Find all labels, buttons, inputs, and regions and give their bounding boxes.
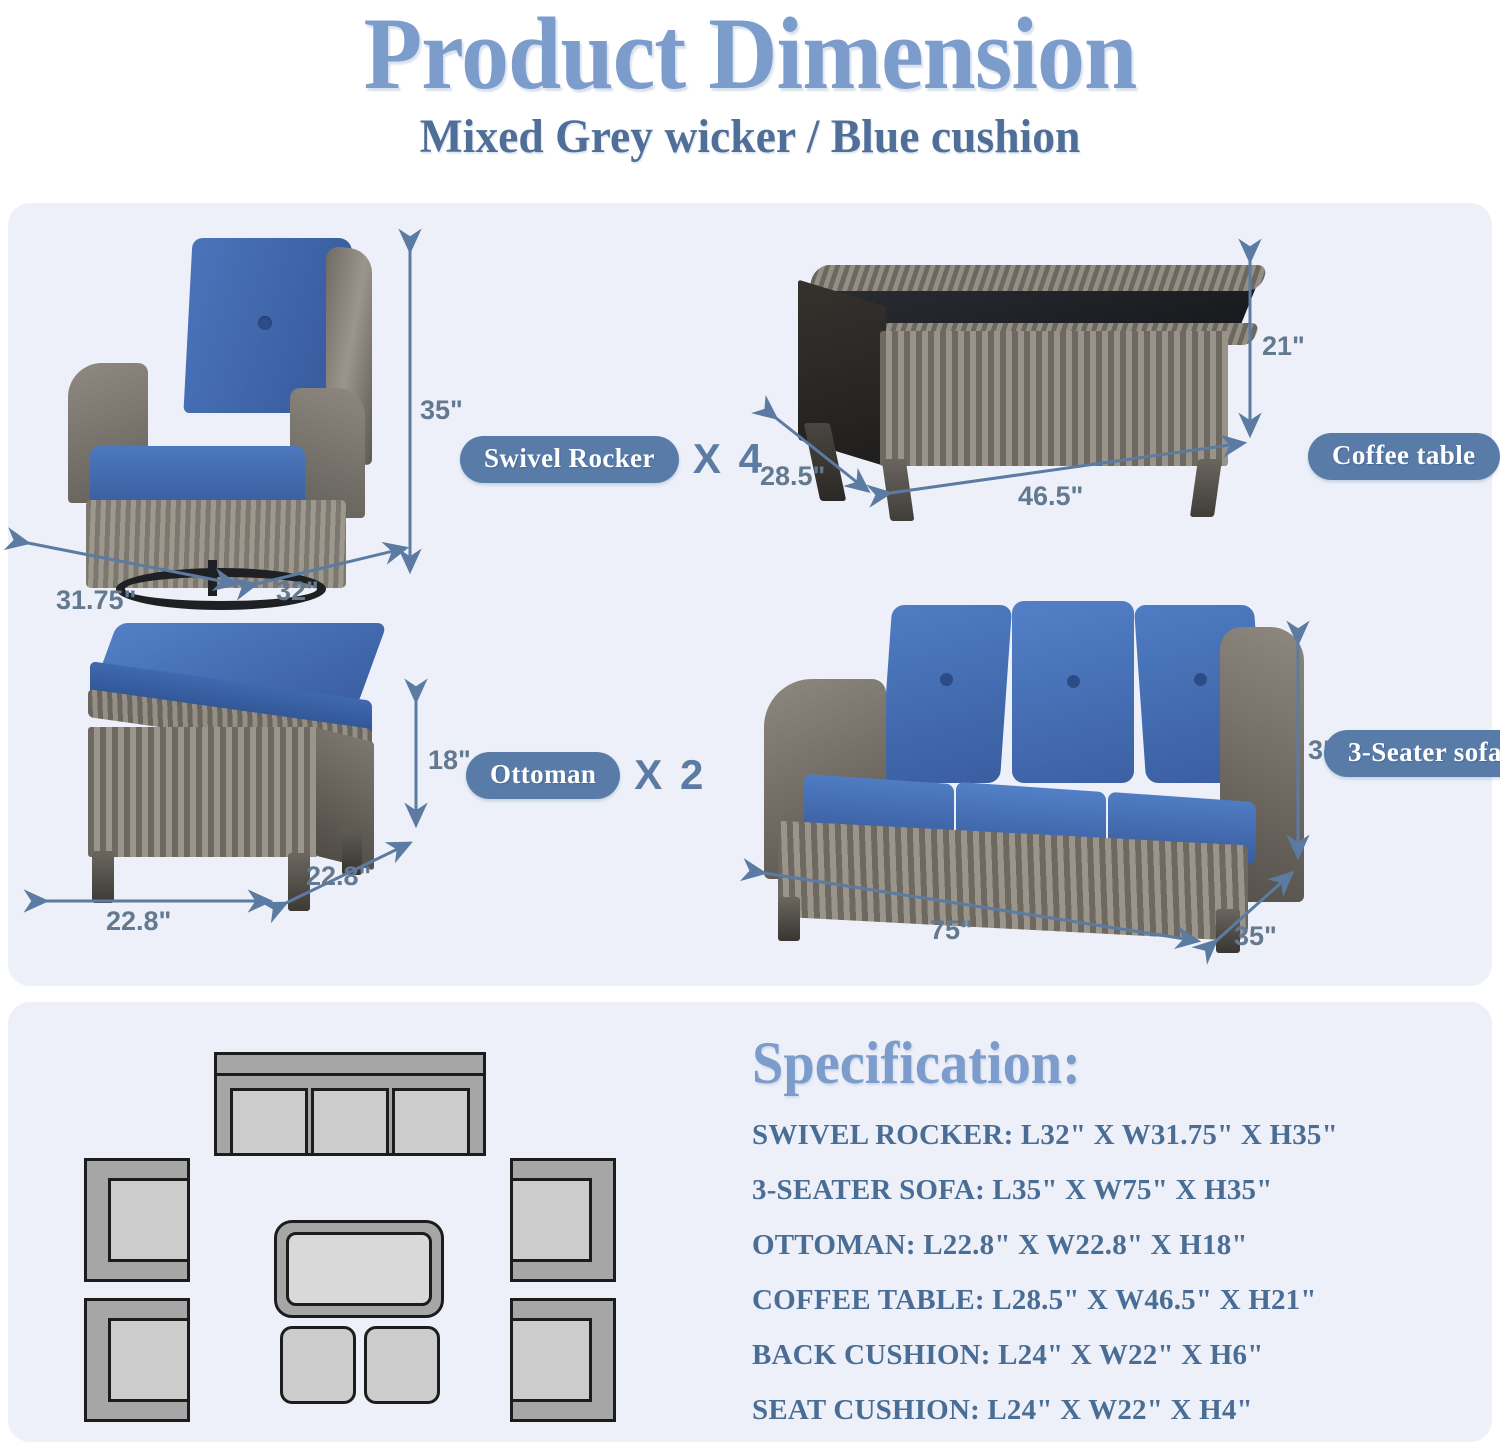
coffee-table-height-label: 21" [1262, 331, 1305, 362]
sofa-width-label: 75" [930, 915, 973, 946]
ottoman-pill[interactable]: Ottoman [466, 752, 620, 799]
sofa-label-row: 3-Seater sofa [1324, 730, 1500, 777]
ottoman-depth-label: 22.8" [306, 861, 371, 892]
plan-sofa [214, 1052, 486, 1156]
products-panel: 35" 31.75" 32" Swivel Rocker X 4 [8, 203, 1492, 986]
coffee-table-label-row: Coffee table [1308, 433, 1500, 480]
ottoman-height-label: 18" [428, 745, 471, 776]
plan-layout-diagram [70, 1030, 700, 1430]
spec-line-ottoman: OTTOMAN: L22.8" X W22.8" X H18" [752, 1231, 1452, 1260]
plan-coffee-table [274, 1220, 444, 1318]
swivel-rocker-illustration [68, 238, 378, 578]
swivel-rocker-height-label: 35" [420, 395, 463, 426]
coffee-table-pill[interactable]: Coffee table [1308, 433, 1500, 480]
plan-chair [84, 1158, 190, 1282]
product-three-seater-sofa: 35" 75" 35" 3-Seater sofa [750, 585, 1492, 985]
spec-line-seat-cushion: SEAT CUSHION: L24" X W22" X H4" [752, 1396, 1452, 1425]
product-swivel-rocker: 35" 31.75" 32" Swivel Rocker X 4 [8, 203, 748, 593]
product-ottoman: 18" 22.8" 22.8" Ottoman X 2 [8, 603, 748, 983]
page-subtitle: Mixed Grey wicker / Blue cushion [38, 111, 1463, 164]
coffee-table-illustration [790, 273, 1270, 513]
plan-ottoman [280, 1326, 356, 1404]
plan-chair [510, 1298, 616, 1422]
page-title: Product Dimension [53, 2, 1448, 107]
sofa-illustration [764, 601, 1304, 931]
coffee-table-depth-label: 28.5" [760, 461, 825, 492]
spec-line-back-cushion: BACK CUSHION: L24" X W22" X H6" [752, 1341, 1452, 1370]
sofa-depth-label: 35" [1234, 921, 1277, 952]
spec-line-swivel-rocker: SWIVEL ROCKER: L32" X W31.75" X H35" [752, 1121, 1452, 1150]
product-coffee-table: 21" 28.5" 46.5" Coffee table [750, 203, 1492, 593]
ottoman-quantity: X 2 [634, 751, 706, 799]
plan-chair [84, 1298, 190, 1422]
spec-line-three-seater: 3-SEATER SOFA: L35" X W75" X H35" [752, 1176, 1452, 1205]
specification-block: Specification: SWIVEL ROCKER: L32" X W31… [752, 1032, 1452, 1425]
ottoman-width-label: 22.8" [106, 906, 171, 937]
coffee-table-width-label: 46.5" [1018, 481, 1083, 512]
plan-chair [510, 1158, 616, 1282]
swivel-rocker-pill[interactable]: Swivel Rocker [460, 436, 679, 483]
swivel-rocker-label-row: Swivel Rocker X 4 [460, 435, 765, 483]
plan-ottoman [364, 1326, 440, 1404]
header: Product Dimension Mixed Grey wicker / Bl… [0, 0, 1500, 164]
specification-heading: Specification: [752, 1032, 1410, 1095]
ottoman-label-row: Ottoman X 2 [466, 751, 706, 799]
spec-line-coffee-table: COFFEE TABLE: L28.5" X W46.5" X H21" [752, 1286, 1452, 1315]
sofa-pill[interactable]: 3-Seater sofa [1324, 730, 1500, 777]
